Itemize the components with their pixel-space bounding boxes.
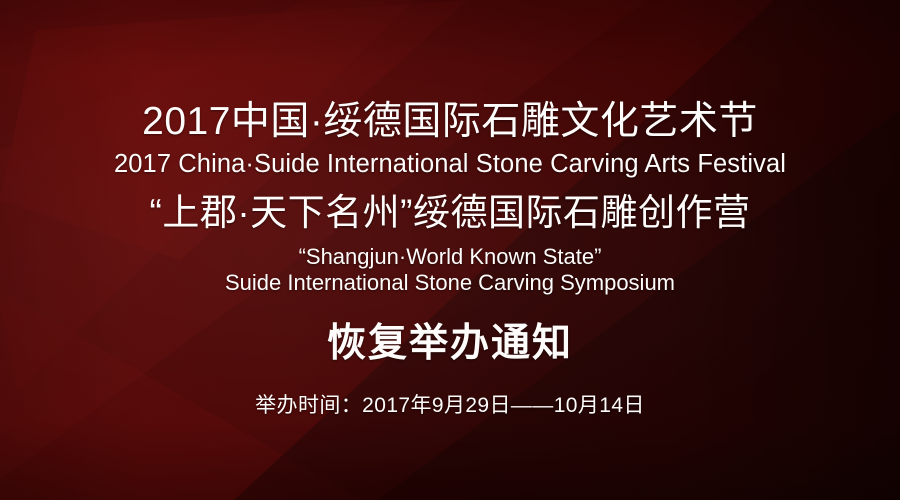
event-poster: 2017中国·绥德国际石雕文化艺术节 2017 China·Suide Inte…	[0, 0, 900, 500]
symposium-slogan-english: “Shangjun·World Known State”	[0, 245, 900, 270]
event-date-range: 举办时间：2017年9月29日——10月14日	[0, 394, 900, 417]
symposium-title-chinese: “上郡·天下名州”绥德国际石雕创作营	[0, 193, 900, 234]
notice-headline: 恢复举办通知	[0, 323, 900, 366]
poster-text-block: 2017中国·绥德国际石雕文化艺术节 2017 China·Suide Inte…	[0, 0, 900, 500]
festival-title-chinese: 2017中国·绥德国际石雕文化艺术节	[0, 101, 900, 143]
symposium-name-english: Suide International Stone Carving Sympos…	[0, 271, 900, 296]
festival-title-english: 2017 China·Suide International Stone Car…	[0, 150, 900, 178]
